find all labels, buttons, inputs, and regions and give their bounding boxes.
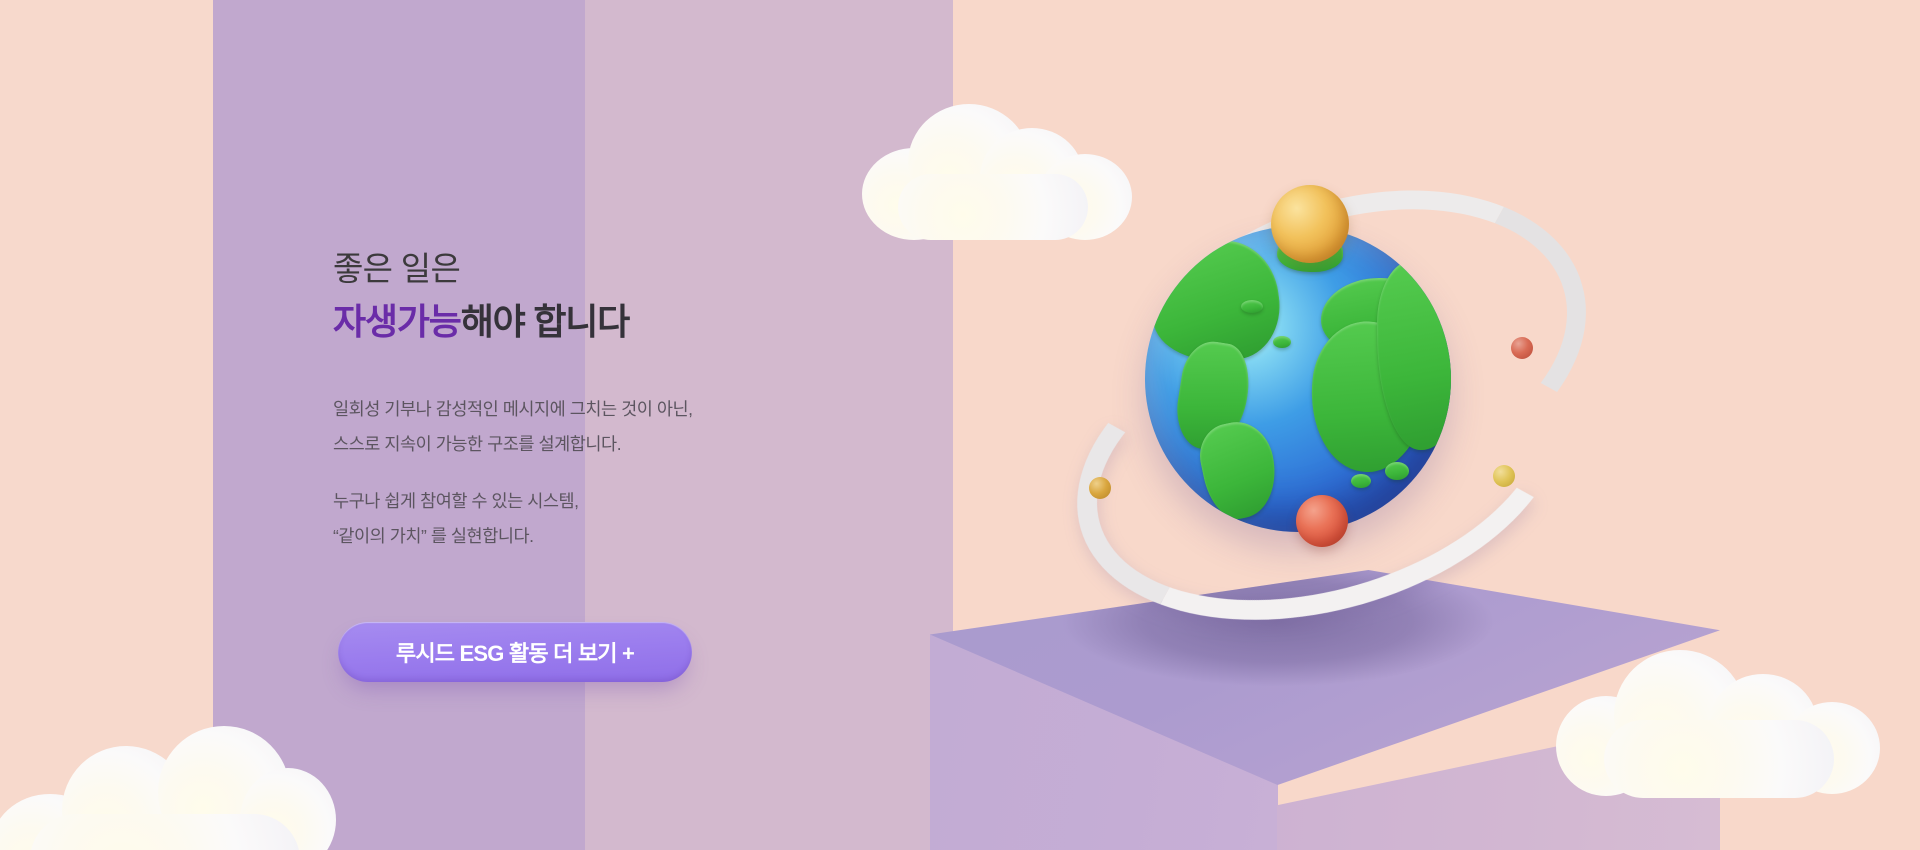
cloud-top bbox=[862, 100, 1132, 240]
body-paragraph-2: 누구나 쉽게 참여할 수 있는 시스템, “같이의 가치” 를 실현합니다. bbox=[333, 484, 893, 554]
hero-banner: 좋은 일은 자생가능해야 합니다 일회성 기부나 감성적인 메시지에 그치는 것… bbox=[0, 0, 1920, 850]
body-paragraph-1-line-1: 일회성 기부나 감성적인 메시지에 그치는 것이 아닌, bbox=[333, 392, 893, 427]
amber-dot-right bbox=[1493, 465, 1515, 487]
hero-copy-block: 좋은 일은 자생가능해야 합니다 일회성 기부나 감성적인 메시지에 그치는 것… bbox=[333, 246, 893, 554]
body-paragraph-1-line-2: 스스로 지속이 가능한 구조를 설계합니다. bbox=[333, 427, 893, 462]
body-paragraph-2-line-2: “같이의 가치” 를 실현합니다. bbox=[333, 519, 893, 554]
island-small-1 bbox=[1241, 300, 1263, 313]
cloud-bottom-right bbox=[1556, 648, 1886, 813]
red-dot bbox=[1511, 337, 1533, 359]
cloud-bottom-left bbox=[0, 718, 320, 850]
headline-rest-text: 해야 합니다 bbox=[461, 301, 629, 342]
esg-more-button[interactable]: 루시드 ESG 활동 더 보기 + bbox=[338, 622, 692, 682]
headline-line-2: 자생가능해야 합니다 bbox=[333, 296, 893, 347]
earth-globe-illustration bbox=[1105, 190, 1625, 610]
body-paragraph-2-line-1: 누구나 쉽게 참여할 수 있는 시스템, bbox=[333, 484, 893, 519]
headline-line-1: 좋은 일은 bbox=[333, 246, 893, 293]
red-sphere-medium bbox=[1296, 495, 1348, 547]
cta-wrapper: 루시드 ESG 활동 더 보기 + bbox=[338, 622, 692, 682]
headline-accent-text: 자생가능 bbox=[333, 301, 461, 342]
body-paragraph-1: 일회성 기부나 감성적인 메시지에 그치는 것이 아닌, 스스로 지속이 가능한… bbox=[333, 392, 893, 462]
amber-sphere-large bbox=[1271, 185, 1349, 263]
page-headline: 좋은 일은 자생가능해야 합니다 bbox=[333, 246, 893, 347]
amber-dot-left bbox=[1089, 477, 1111, 499]
